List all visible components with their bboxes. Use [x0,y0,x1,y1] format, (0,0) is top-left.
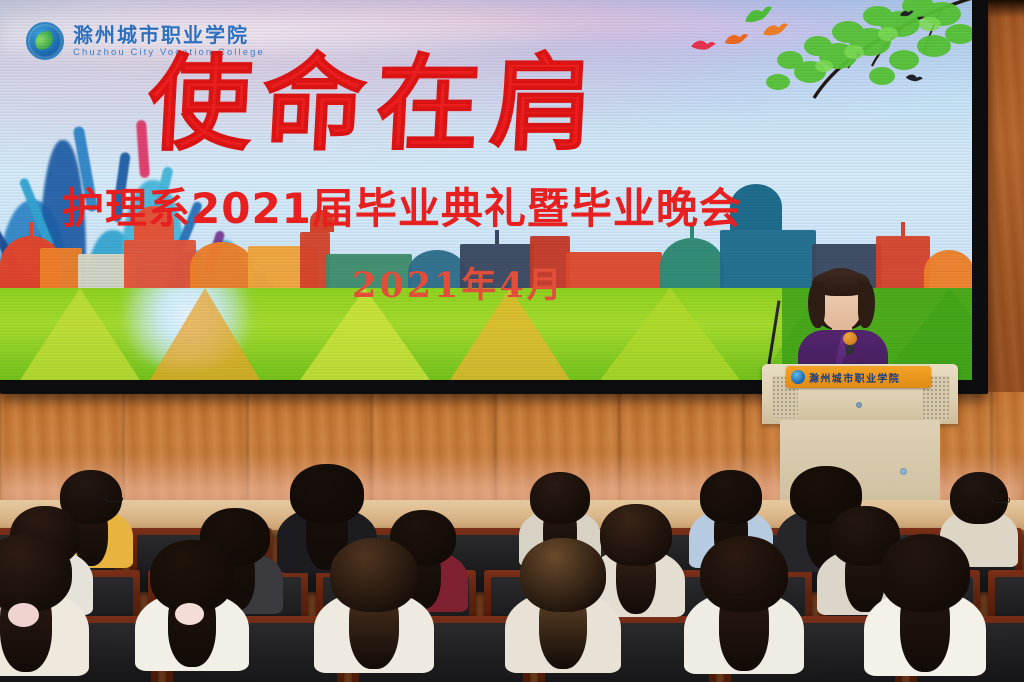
podium-nameplate: 滁州城市职业学院 [786,366,931,388]
audience-member-head [880,534,970,612]
audience-member [880,534,970,682]
audience-member-head [520,538,606,612]
building-spire [29,222,33,236]
audience-member-head [600,504,672,566]
tree-branch-icon [642,0,972,134]
audience-member [700,536,788,682]
auditorium-photo: 滁州城市职业学院 Chuzhou City Vocation College 使… [0,0,1024,682]
audience-member-head [150,540,234,612]
eyeglasses-icon [992,497,1010,503]
bird-red-icon [690,37,717,52]
skyline-building [660,238,724,294]
skyline-building [190,242,254,294]
event-subtitle: 护理系2021届毕业典礼暨毕业晚会 [62,188,742,230]
audience-member-head [700,536,788,612]
ground-facet [150,288,260,380]
audience-area [0,420,1024,682]
ground-facet [600,288,740,380]
audience-member [330,538,418,682]
audience-member [520,538,606,682]
ground-facet [20,288,140,380]
hair-scrunchie [175,603,204,625]
podium-emblem-icon [791,370,805,384]
audience-member [0,534,72,682]
building-spire [901,222,905,236]
podium-button-icon [856,402,862,408]
event-main-title: 使命在肩 [145,52,606,156]
bird-dark-2-icon [899,8,915,18]
audience-member-head [530,472,590,524]
speaker-hair-left [808,282,825,328]
eyeglasses-icon [105,496,123,502]
college-name-cn: 滁州城市职业学院 [73,25,265,45]
audience-member-head [290,464,364,524]
audience-member [150,540,234,682]
college-emblem-icon [26,22,64,60]
audience-member-head [700,470,762,524]
audience-member-head [330,538,418,612]
hair-scrunchie [8,603,39,627]
speaker-hair-right [858,282,875,328]
audience-member-head [0,534,72,612]
event-date: 2021年4月 [352,268,565,303]
podium-nameplate-text: 滁州城市职业学院 [809,370,900,385]
skyline-building [124,240,196,294]
